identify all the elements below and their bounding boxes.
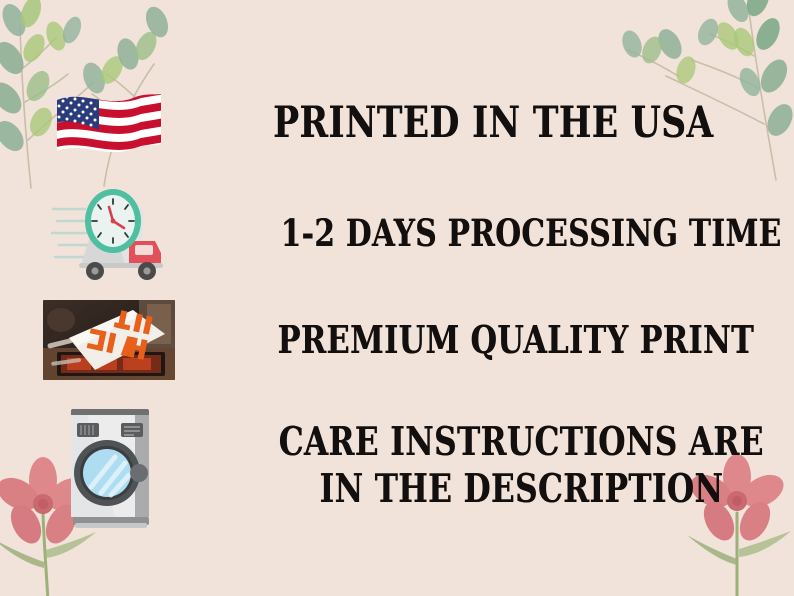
feature-headline-care-line-1: CARE INSTRUCTIONS ARE	[279, 420, 764, 465]
feature-row-premium: PREMIUM QUALITY PRINT	[0, 288, 794, 392]
feature-icon-cell-premium	[0, 300, 218, 380]
feature-text-cell-usa: PRINTED IN THE USA	[218, 99, 794, 149]
feature-icon-cell-care	[0, 403, 218, 529]
screen-printing-photo-icon	[43, 300, 175, 380]
feature-headline-care-line-2: IN THE DESCRIPTION	[319, 467, 723, 512]
fast-delivery-clock-icon	[51, 183, 167, 283]
feature-row-care: CARE INSTRUCTIONS ARE IN THE DESCRIPTION	[0, 392, 794, 540]
feature-headline-usa: PRINTED IN THE USA	[273, 99, 713, 149]
feature-row-processing: 1-2 DAYS PROCESSING TIME	[0, 178, 794, 288]
infographic-canvas: PRINTED IN THE USA	[0, 0, 794, 596]
feature-row-usa: PRINTED IN THE USA	[0, 66, 794, 182]
feature-text-cell-processing: 1-2 DAYS PROCESSING TIME	[218, 212, 794, 255]
usa-flag-icon	[53, 86, 165, 162]
feature-icon-cell-usa	[0, 86, 218, 162]
feature-text-cell-premium: PREMIUM QUALITY PRINT	[218, 318, 794, 362]
feature-headline-processing: 1-2 DAYS PROCESSING TIME	[281, 212, 782, 255]
feature-headline-premium: PREMIUM QUALITY PRINT	[278, 318, 754, 362]
washing-machine-icon	[57, 403, 161, 529]
feature-icon-cell-processing	[0, 183, 218, 283]
feature-text-cell-care: CARE INSTRUCTIONS ARE IN THE DESCRIPTION	[218, 420, 794, 512]
